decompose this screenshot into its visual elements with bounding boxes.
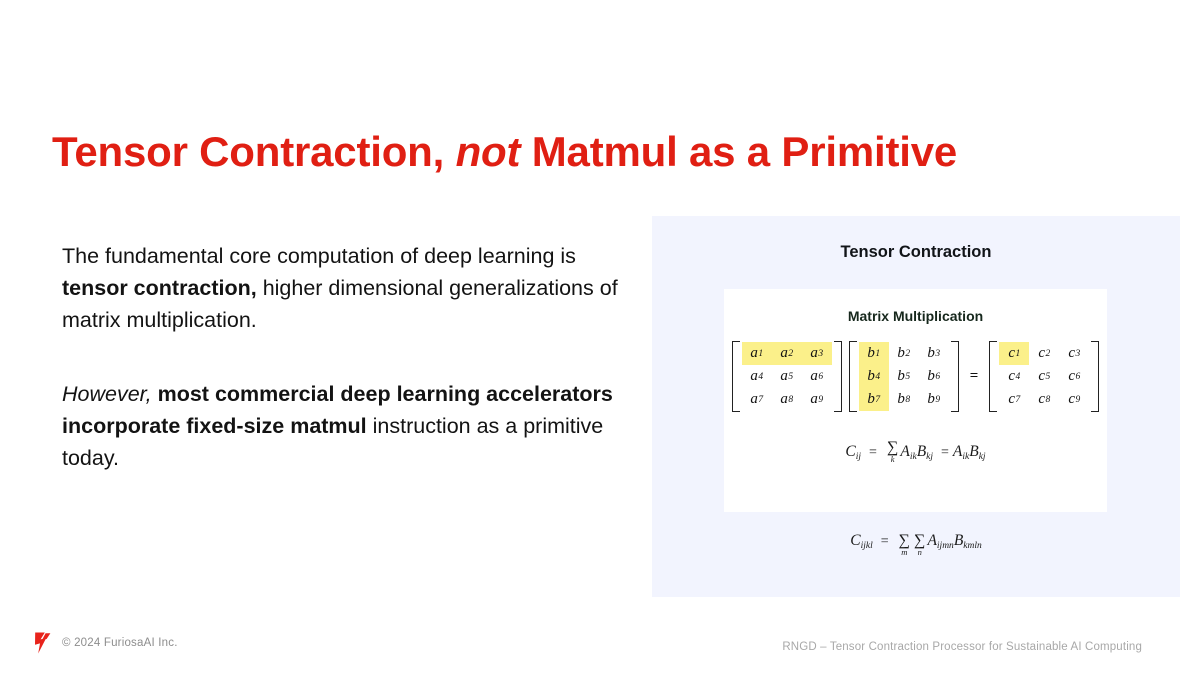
matrix-c-cell: c2: [1029, 342, 1059, 365]
formula1-lhs: C: [845, 443, 855, 460]
summation-icon: ∑ m: [899, 534, 910, 557]
formula2-term2-sub: kmln: [963, 541, 981, 551]
sigma-glyph: ∑: [899, 534, 910, 547]
paragraph-two-italic: However,: [62, 382, 152, 406]
bracket-right-icon: [951, 341, 959, 412]
title-text-italic: not: [456, 128, 521, 175]
matrix-b-cell: b7: [859, 388, 889, 411]
formula-tensor-contraction: Cijkl = ∑ m ∑ n AijmnBkmln: [652, 532, 1180, 557]
matrix-c-cell: c1: [999, 342, 1029, 365]
paragraph-one: The fundamental core computation of deep…: [62, 240, 632, 336]
matrix-a-cell: a1: [742, 342, 772, 365]
copyright-text: © 2024 FuriosaAI Inc.: [62, 637, 178, 649]
sigma-glyph: ∑: [887, 441, 898, 454]
double-summation-icon: ∑ m ∑ n: [897, 534, 928, 557]
body-text-column: The fundamental core computation of deep…: [62, 240, 632, 516]
bracket-right-icon: [1091, 341, 1099, 412]
formula1-equals-1: =: [865, 445, 881, 460]
matrix-b-cell: b9: [919, 388, 949, 411]
sum-index-n: n: [918, 547, 922, 557]
formula2-term2: B: [954, 532, 963, 549]
matrix-a: a1a2a3a4a5a6a7a8a9: [732, 337, 842, 416]
footer-tagline: RNGD – Tensor Contraction Processor for …: [782, 641, 1142, 653]
sum-index-m: m: [901, 547, 907, 557]
paragraph-two: However, most commercial deep learning a…: [62, 378, 632, 474]
matrix-c-grid: c1c2c3c4c5c6c7c8c9: [997, 341, 1091, 412]
matrix-a-cell: a7: [742, 388, 772, 411]
matrix-a-cell: a2: [772, 342, 802, 365]
bracket-left-icon: [732, 341, 740, 412]
paragraph-one-bold: tensor contraction,: [62, 276, 257, 300]
footer-left: © 2024 FuriosaAI Inc.: [32, 631, 178, 655]
formula1-term1-sub: ik: [910, 452, 917, 462]
formula1-term4: B: [969, 443, 978, 460]
matrix-b-cell: b8: [889, 388, 919, 411]
formula1-term1: A: [900, 443, 909, 460]
matrix-c-cell: c9: [1059, 388, 1089, 411]
matrix-c: c1c2c3c4c5c6c7c8c9: [989, 337, 1099, 416]
paragraph-one-seg1: The fundamental core computation of deep…: [62, 244, 576, 268]
figure-panel: Tensor Contraction Matrix Multiplication…: [652, 216, 1180, 597]
summation-icon: ∑ n: [914, 534, 925, 557]
matrix-b-grid: b1b2b3b4b5b6b7b8b9: [857, 341, 951, 412]
matrix-a-cell: a8: [772, 388, 802, 411]
matrix-a-cell: a9: [802, 388, 832, 411]
page-title: Tensor Contraction, not Matmul as a Prim…: [52, 128, 957, 176]
matrix-c-cell: c3: [1059, 342, 1089, 365]
matrix-c-cell: c4: [999, 365, 1029, 388]
formula2-term1: A: [927, 532, 936, 549]
matrix-b-cell: b1: [859, 342, 889, 365]
matrix-multiplication-title: Matrix Multiplication: [724, 308, 1107, 324]
matrix-c-cell: c6: [1059, 365, 1089, 388]
matrix-a-grid: a1a2a3a4a5a6a7a8a9: [740, 341, 834, 412]
formula1-lhs-sub: ij: [856, 452, 861, 462]
formula1-term4-sub: kj: [979, 452, 986, 462]
bracket-right-icon: [834, 341, 842, 412]
furiosaai-bolt-logo-icon: [32, 631, 52, 655]
matrix-b-cell: b6: [919, 365, 949, 388]
bracket-left-icon: [989, 341, 997, 412]
formula2-lhs-sub: ijkl: [861, 541, 873, 551]
matrix-b-cell: b4: [859, 365, 889, 388]
matrix-equals-sign: =: [966, 368, 983, 385]
formula1-term2-sub: kj: [926, 452, 933, 462]
matrix-c-cell: c7: [999, 388, 1029, 411]
title-text-part2: Matmul as a Primitive: [520, 128, 957, 175]
formula2-lhs: C: [850, 532, 860, 549]
formula1-equals-2: =: [937, 445, 953, 460]
matrix-equation-row: a1a2a3a4a5a6a7a8a9 b1b2b3b4b5b6b7b8b9 = …: [724, 337, 1107, 416]
summation-icon: ∑ k: [887, 441, 898, 464]
matrix-multiplication-card: Matrix Multiplication a1a2a3a4a5a6a7a8a9…: [724, 289, 1107, 512]
matrix-b-cell: b5: [889, 365, 919, 388]
sigma-glyph: ∑: [914, 534, 925, 547]
title-text-part1: Tensor Contraction,: [52, 128, 456, 175]
figure-panel-title: Tensor Contraction: [652, 243, 1180, 262]
matrix-a-cell: a3: [802, 342, 832, 365]
matrix-c-cell: c5: [1029, 365, 1059, 388]
matrix-c-cell: c8: [1029, 388, 1059, 411]
slide-canvas: Tensor Contraction, not Matmul as a Prim…: [0, 0, 1200, 675]
matrix-a-cell: a6: [802, 365, 832, 388]
matrix-b-cell: b2: [889, 342, 919, 365]
formula2-term1-sub: ijmn: [937, 541, 954, 551]
formula1-term2: B: [917, 443, 926, 460]
matrix-a-cell: a5: [772, 365, 802, 388]
formula2-equals: =: [877, 534, 893, 549]
matrix-b: b1b2b3b4b5b6b7b8b9: [849, 337, 959, 416]
matrix-b-cell: b3: [919, 342, 949, 365]
bracket-left-icon: [849, 341, 857, 412]
formula1-term3: A: [953, 443, 962, 460]
sum-index: k: [891, 454, 895, 464]
formula-matrix-multiplication: Cij = ∑ k AikBkj =AikBkj: [724, 441, 1107, 464]
matrix-a-cell: a4: [742, 365, 772, 388]
